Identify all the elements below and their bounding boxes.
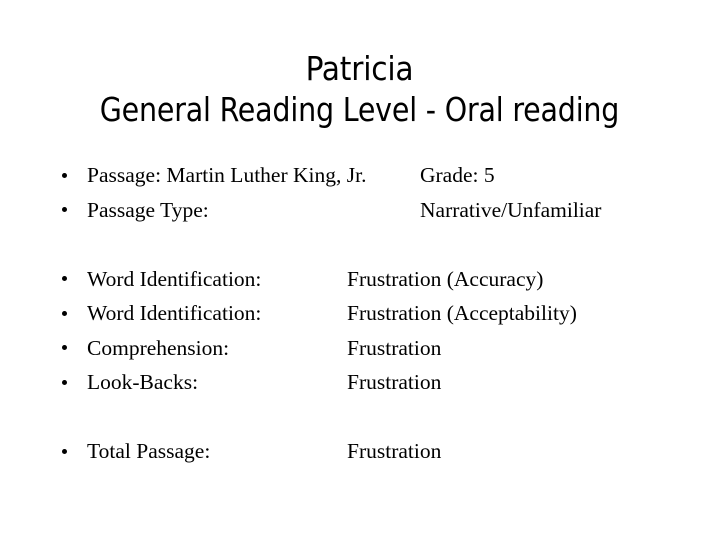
list-item-label: Passage: Martin Luther King, Jr. xyxy=(87,158,366,193)
list-item-value: Narrative/Unfamiliar xyxy=(420,193,601,228)
list-item: Passage Type: Narrative/Unfamiliar xyxy=(57,193,697,228)
slide-title: Patricia General Reading Level - Oral re… xyxy=(0,48,719,130)
slide-title-line-2: General Reading Level - Oral reading xyxy=(14,89,704,130)
list-item: Word Identification: Frustration (Accept… xyxy=(57,296,697,331)
list-item-value: Grade: 5 xyxy=(420,158,495,193)
list-spacer xyxy=(57,227,697,262)
list-item-label: Comprehension: xyxy=(87,331,229,366)
list-item-value: Frustration xyxy=(347,434,441,469)
list-item: Look-Backs: Frustration xyxy=(57,365,697,400)
bullet-dot-icon xyxy=(62,276,67,281)
list-item-label: Word Identification: xyxy=(87,296,261,331)
list-item: Word Identification: Frustration (Accura… xyxy=(57,262,697,297)
list-item: Passage: Martin Luther King, Jr. Grade: … xyxy=(57,158,697,193)
bullet-dot-icon xyxy=(62,173,67,178)
slide-canvas: Patricia General Reading Level - Oral re… xyxy=(0,0,719,539)
list-item-value: Frustration xyxy=(347,331,441,366)
bullet-dot-icon xyxy=(62,345,67,350)
list-item: Total Passage: Frustration xyxy=(57,434,697,469)
list-item-value: Frustration (Acceptability) xyxy=(347,296,577,331)
list-item-label: Word Identification: xyxy=(87,262,261,297)
slide-body-bullet-list: Passage: Martin Luther King, Jr. Grade: … xyxy=(57,158,697,469)
bullet-dot-icon xyxy=(62,311,67,316)
list-spacer xyxy=(57,400,697,435)
bullet-dot-icon xyxy=(62,449,67,454)
list-item-value: Frustration (Accuracy) xyxy=(347,262,543,297)
bullet-dot-icon xyxy=(62,380,67,385)
list-item-value: Frustration xyxy=(347,365,441,400)
bullet-dot-icon xyxy=(62,207,67,212)
list-item-label: Passage Type: xyxy=(87,193,209,228)
list-item: Comprehension: Frustration xyxy=(57,331,697,366)
list-item-label: Total Passage: xyxy=(87,434,210,469)
list-item-label: Look-Backs: xyxy=(87,365,198,400)
slide-title-line-1: Patricia xyxy=(0,48,719,89)
